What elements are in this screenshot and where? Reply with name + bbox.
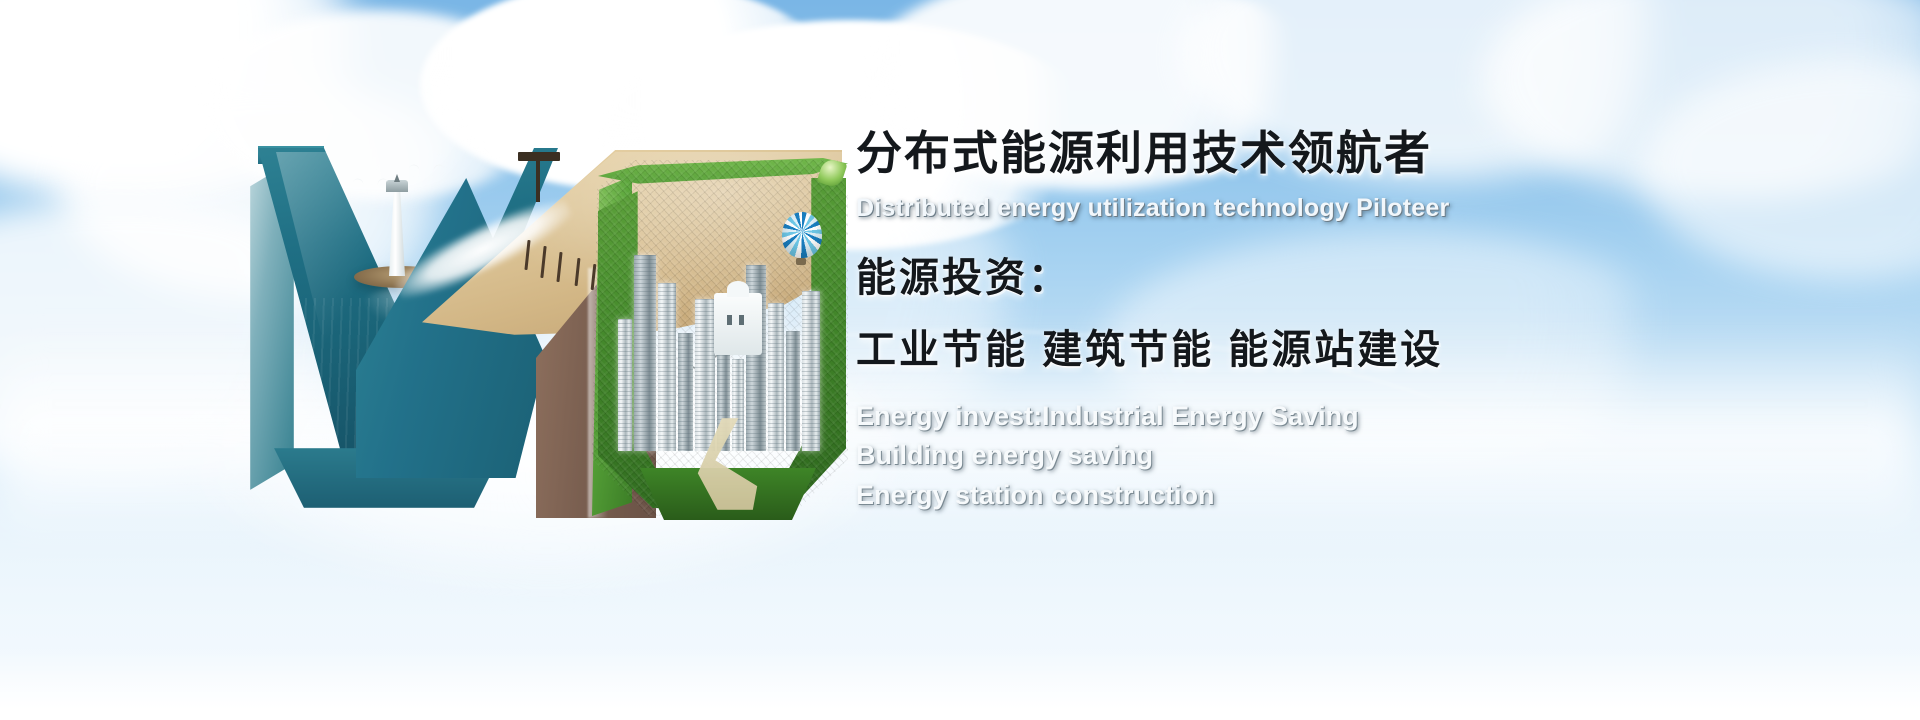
skyscraper-icon: [658, 283, 676, 451]
hero-artwork-w: [236, 118, 856, 518]
lighthouse-icon: [389, 190, 405, 276]
skyscraper-icon: [634, 255, 656, 451]
balloon-basket-icon: [796, 258, 806, 265]
services-english-line-2: Building energy saving: [856, 436, 1866, 476]
skyscraper-icon: [786, 331, 800, 451]
window-icon: [739, 315, 744, 325]
hero-copy: 分布式能源利用技术领航者 Distributed energy utilizat…: [856, 128, 1866, 516]
headline-chinese: 分布式能源利用技术领航者: [856, 128, 1866, 180]
skyscraper-icon: [618, 319, 632, 451]
bottom-fade: [0, 650, 1920, 720]
services-english-block: Energy invest:Industrial Energy Saving B…: [856, 397, 1866, 517]
window-icon: [727, 315, 732, 325]
headline-english: Distributed energy utilization technolog…: [856, 194, 1866, 223]
dome-icon: [727, 281, 749, 297]
civic-building-icon: [714, 293, 762, 355]
skyscraper-icon: [732, 359, 744, 451]
services-english-line-3: Energy station construction: [856, 476, 1866, 516]
skyscraper-icon: [768, 303, 784, 451]
services-english-line-1: Energy invest:Industrial Energy Saving: [856, 397, 1866, 437]
section-label-chinese: 能源投资：: [856, 245, 1866, 303]
signpost-icon: [536, 156, 540, 202]
signpost-board-icon: [518, 152, 560, 161]
hot-air-balloon-icon: [782, 212, 822, 258]
skyscraper-icon: [678, 333, 693, 451]
services-chinese: 工业节能 建筑节能 能源站建设: [856, 317, 1866, 375]
lighthouse-tip-icon: [394, 174, 400, 182]
skyscraper-icon: [695, 299, 715, 451]
hero-banner: 分布式能源利用技术领航者 Distributed energy utilizat…: [0, 0, 1920, 720]
skyscraper-icon: [802, 291, 820, 451]
